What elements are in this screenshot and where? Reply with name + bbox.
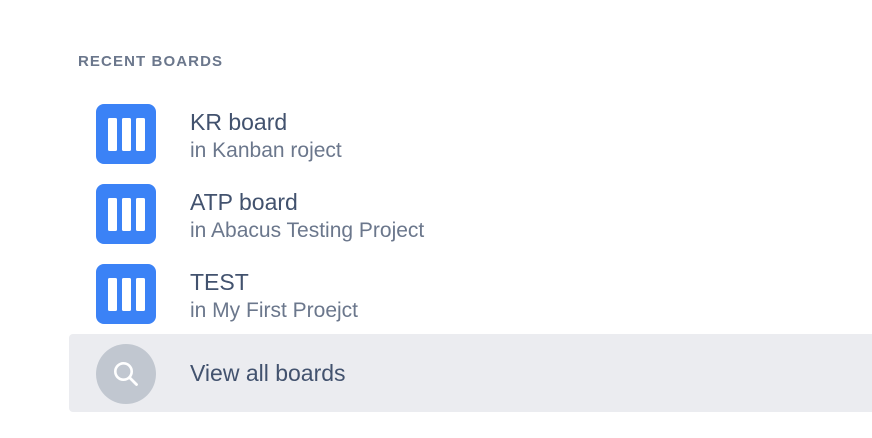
recent-boards-dropdown-panel: RECENT BOARDS KR board in Kanban roject …: [0, 0, 872, 438]
board-column-bar: [122, 198, 131, 231]
board-column-bar: [122, 278, 131, 311]
board-column-bar: [108, 278, 117, 311]
recent-boards-section-header: RECENT BOARDS: [78, 52, 223, 72]
view-all-boards-item[interactable]: View all boards: [69, 334, 872, 412]
board-title: KR board: [190, 107, 342, 137]
list-item[interactable]: TEST in My First Proejct: [0, 256, 872, 336]
board-text-block: TEST in My First Proejct: [190, 267, 358, 325]
board-columns-icon: [96, 184, 156, 244]
board-subtitle: in My First Proejct: [190, 297, 358, 325]
board-title: ATP board: [190, 187, 424, 217]
board-column-bar: [108, 198, 117, 231]
view-all-boards-label: View all boards: [190, 358, 346, 388]
board-text-block: KR board in Kanban roject: [190, 107, 342, 165]
board-column-bar: [108, 118, 117, 151]
board-subtitle: in Abacus Testing Project: [190, 217, 424, 245]
board-column-bar: [136, 118, 145, 151]
board-text-block: ATP board in Abacus Testing Project: [190, 187, 424, 245]
board-subtitle: in Kanban roject: [190, 137, 342, 165]
search-icon: [96, 344, 156, 404]
board-columns-icon: [96, 104, 156, 164]
recent-boards-list: KR board in Kanban roject ATP board in A…: [0, 96, 872, 336]
board-title: TEST: [190, 267, 358, 297]
board-column-bar: [122, 118, 131, 151]
board-column-bar: [136, 198, 145, 231]
list-item[interactable]: ATP board in Abacus Testing Project: [0, 176, 872, 256]
list-item[interactable]: KR board in Kanban roject: [0, 96, 872, 176]
board-columns-icon: [96, 264, 156, 324]
board-column-bar: [136, 278, 145, 311]
